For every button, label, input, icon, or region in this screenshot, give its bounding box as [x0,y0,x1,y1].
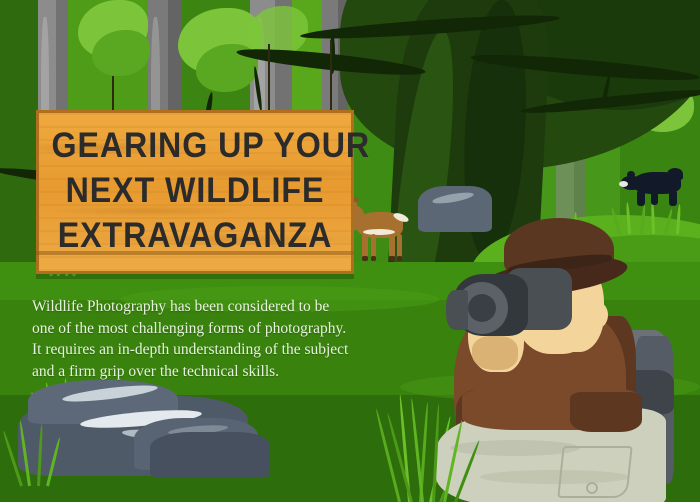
sign-cord [268,44,270,112]
headline-line-1: GEARING UP YOUR [51,123,338,168]
pocket-button [586,482,598,494]
poster-canvas: GEARING UP YOUR NEXT WILDLIFE EXTRAVAGAN… [0,0,700,502]
jacket-hem-shade [570,392,642,432]
grass-tuft [16,420,66,486]
page-title: GEARING UP YOUR NEXT WILDLIFE EXTRAVAGAN… [51,123,338,258]
grass-tuft-foreground [404,398,474,502]
left-hand-shade [472,336,518,370]
sign-cord [330,40,332,112]
ear [588,302,608,328]
headline-line-3: EXTRAVAGANZA [51,213,338,258]
intro-paragraph: Wildlife Photography has been considered… [32,296,352,382]
camera-lens-glass [468,294,496,322]
sign-cord [112,76,114,112]
headline-line-2: NEXT WILDLIFE [51,168,338,213]
camera-hood [446,290,468,330]
wooden-hanging-sign: GEARING UP YOUR NEXT WILDLIFE EXTRAVAGAN… [36,110,354,274]
rock-formation [150,432,270,478]
